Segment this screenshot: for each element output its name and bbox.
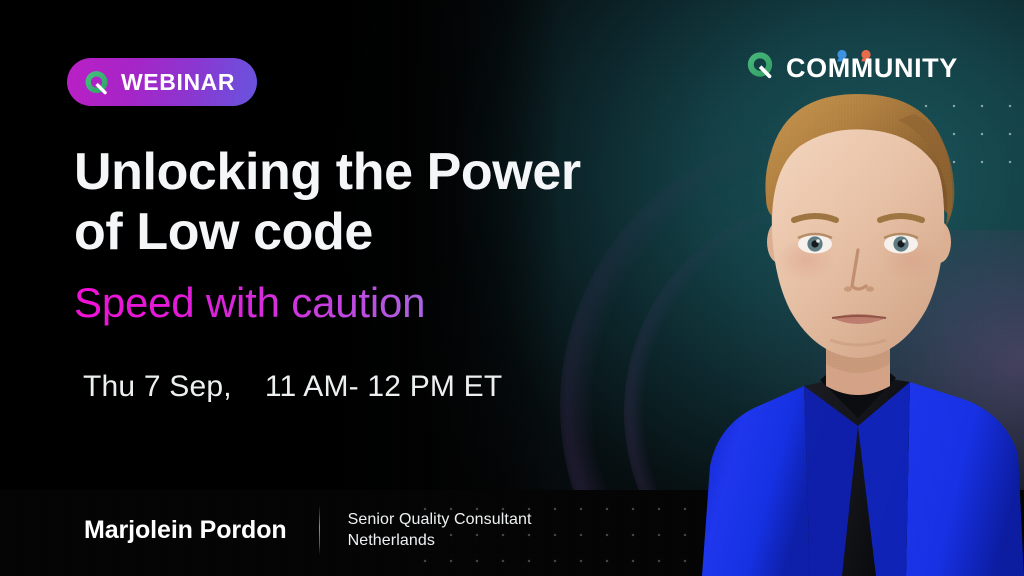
speaker-divider [319, 505, 320, 555]
speaker-role: Senior Quality Consultant [348, 511, 532, 529]
webinar-badge: WEBINAR [67, 58, 257, 106]
speaker-info: Marjolein Pordon Senior Quality Consulta… [84, 505, 532, 555]
community-wordmark: COMMUNITY [786, 48, 968, 82]
q-logo-icon [83, 69, 110, 96]
event-time: 11 AM- 12 PM ET [265, 370, 503, 403]
community-logo: COMMUNITY [745, 48, 968, 82]
q-logo-icon [745, 50, 775, 80]
speaker-name: Marjolein Pordon [84, 516, 287, 545]
mauve-glow-background [724, 230, 1024, 492]
page-subtitle: Speed with caution [74, 280, 425, 326]
community-text: COMMUNITY [786, 53, 958, 82]
speaker-country: Netherlands [348, 532, 532, 550]
title-line-2: of Low code [74, 202, 674, 262]
speaker-meta: Senior Quality Consultant Netherlands [348, 511, 532, 550]
event-datetime: Thu 7 Sep, 11 AM- 12 PM ET [83, 370, 502, 404]
event-date: Thu 7 Sep, [83, 370, 232, 403]
webinar-badge-label: WEBINAR [121, 71, 235, 94]
title-line-1: Unlocking the Power [74, 142, 674, 202]
page-title: Unlocking the Power of Low code [74, 142, 674, 263]
webinar-promo-banner: WEBINAR COMMUNITY Unlocking the Power of… [0, 0, 1024, 576]
